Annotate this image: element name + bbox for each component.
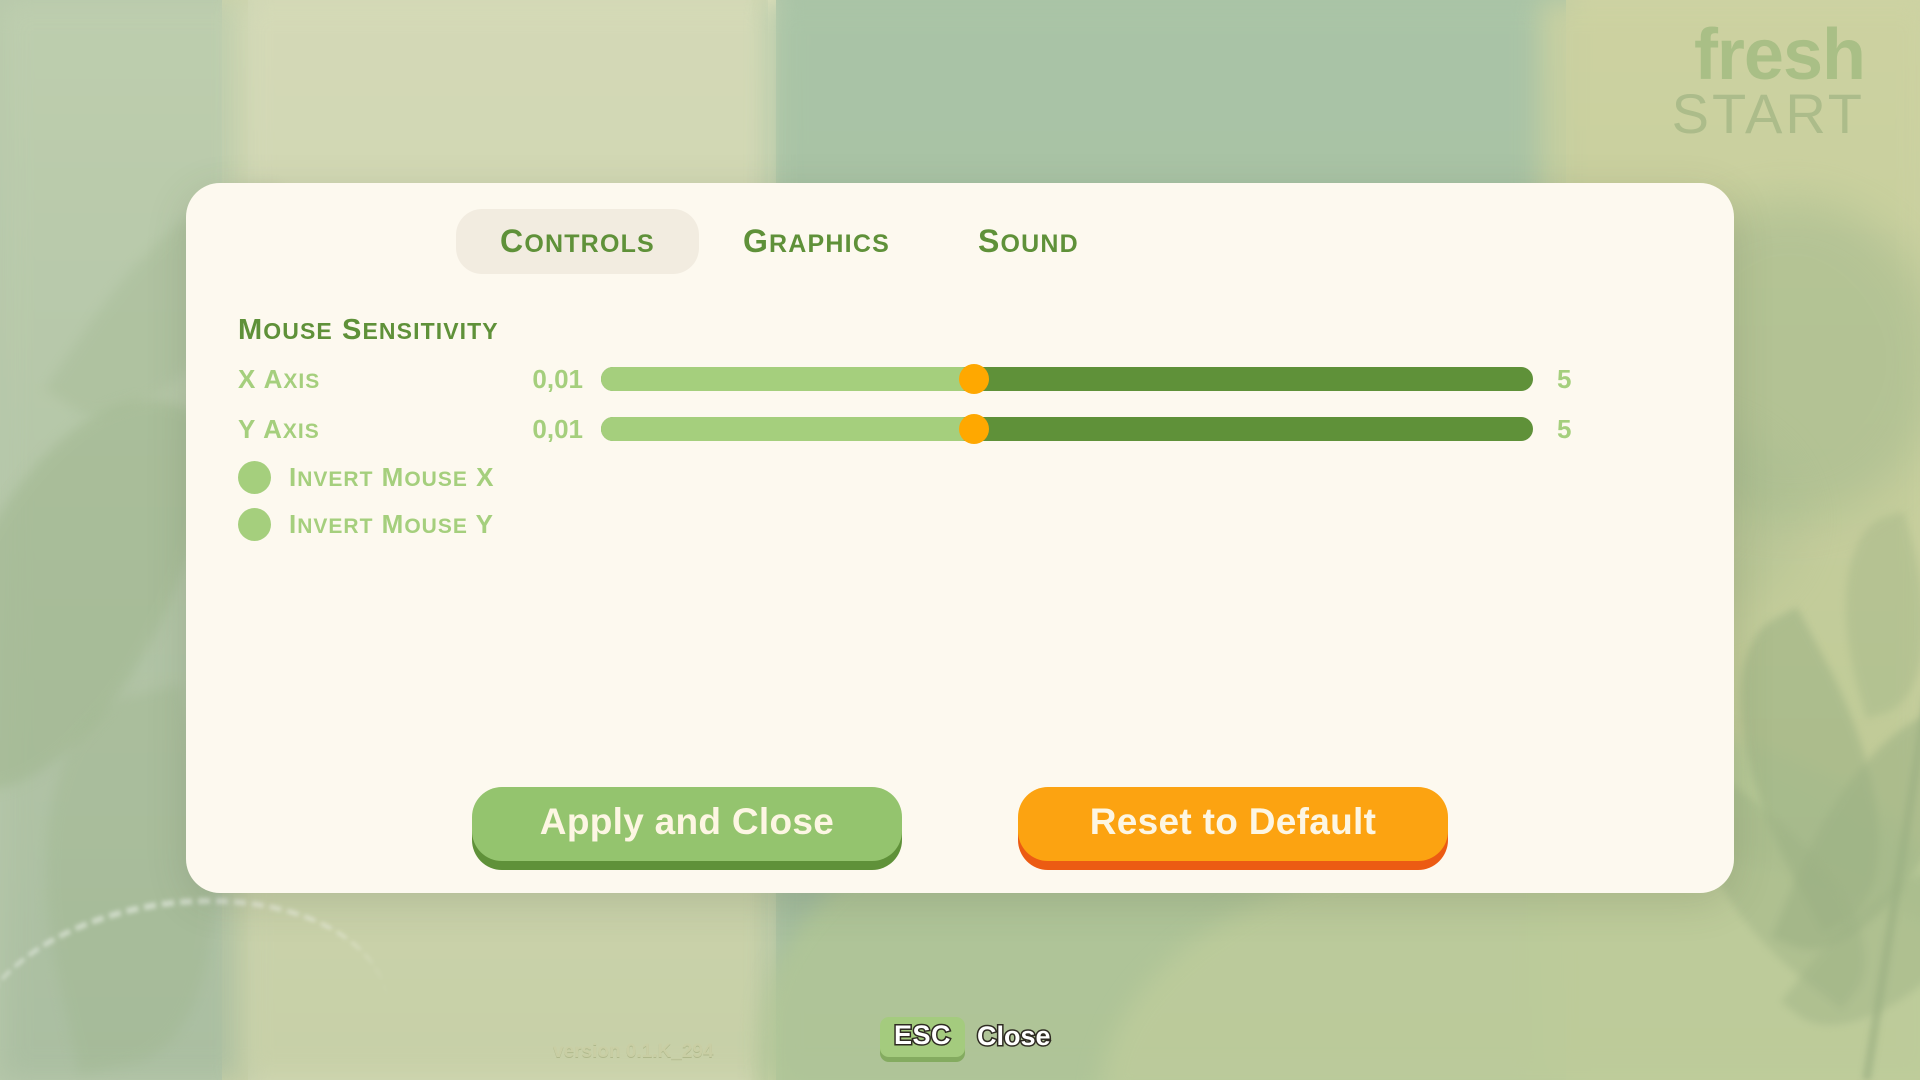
slider-max-x-axis: 5 — [1557, 364, 1627, 395]
game-background: fresh START version 0.1.K_294 ESC Close … — [0, 0, 1920, 1080]
slider-row-y-axis: Y AXIS 0,01 5 — [238, 411, 1734, 447]
slider-track-x-axis[interactable] — [601, 367, 1533, 391]
checkbox-label-invert-mouse-x: INVERT MOUSE X — [289, 462, 494, 493]
esc-close-hint[interactable]: ESC Close — [880, 1017, 1051, 1057]
tab-sound[interactable]: SOUND — [934, 209, 1123, 274]
game-logo: fresh START — [1672, 22, 1865, 140]
tab-sound-label: SOUND — [978, 223, 1079, 259]
dialog-footer: Apply and Close Reset to Default — [186, 787, 1734, 861]
checkbox-invert-mouse-x[interactable] — [238, 461, 271, 494]
reset-to-default-button[interactable]: Reset to Default — [1018, 787, 1448, 861]
checkbox-label-invert-mouse-y: INVERT MOUSE Y — [289, 509, 494, 540]
slider-fill-y-axis — [601, 417, 974, 441]
version-label: version 0.1.K_294 — [553, 1041, 714, 1063]
slider-knob-x-axis[interactable] — [959, 364, 989, 394]
slider-track-y-axis[interactable] — [601, 417, 1533, 441]
tab-graphics-label: GRAPHICS — [743, 223, 890, 259]
slider-max-y-axis: 5 — [1557, 414, 1627, 445]
slider-knob-y-axis[interactable] — [959, 414, 989, 444]
checkbox-invert-mouse-y[interactable] — [238, 508, 271, 541]
esc-key-badge: ESC — [880, 1017, 965, 1057]
tab-controls[interactable]: CONTROLS — [456, 209, 699, 274]
slider-min-y-axis: 0,01 — [513, 414, 583, 445]
slider-fill-x-axis — [601, 367, 974, 391]
game-logo-line-2: START — [1672, 88, 1865, 140]
settings-dialog: CONTROLS GRAPHICS SOUND MOUSE SENSITIVIT… — [186, 183, 1734, 893]
settings-tab-bar: CONTROLS GRAPHICS SOUND — [186, 183, 1734, 274]
esc-close-label: Close — [977, 1021, 1051, 1052]
slider-label-y-axis: Y AXIS — [238, 414, 513, 445]
checkbox-row-invert-mouse-x[interactable]: INVERT MOUSE X — [238, 461, 558, 494]
checkbox-row-invert-mouse-y[interactable]: INVERT MOUSE Y — [238, 508, 558, 541]
section-title-mouse-sensitivity: MOUSE SENSITIVITY — [238, 314, 1734, 347]
slider-label-x-axis: X AXIS — [238, 364, 513, 395]
tab-controls-label: CONTROLS — [500, 223, 655, 259]
slider-row-x-axis: X AXIS 0,01 5 — [238, 361, 1734, 397]
slider-min-x-axis: 0,01 — [513, 364, 583, 395]
apply-and-close-button[interactable]: Apply and Close — [472, 787, 902, 861]
game-logo-line-1: fresh — [1672, 22, 1865, 88]
tab-graphics[interactable]: GRAPHICS — [699, 209, 934, 274]
